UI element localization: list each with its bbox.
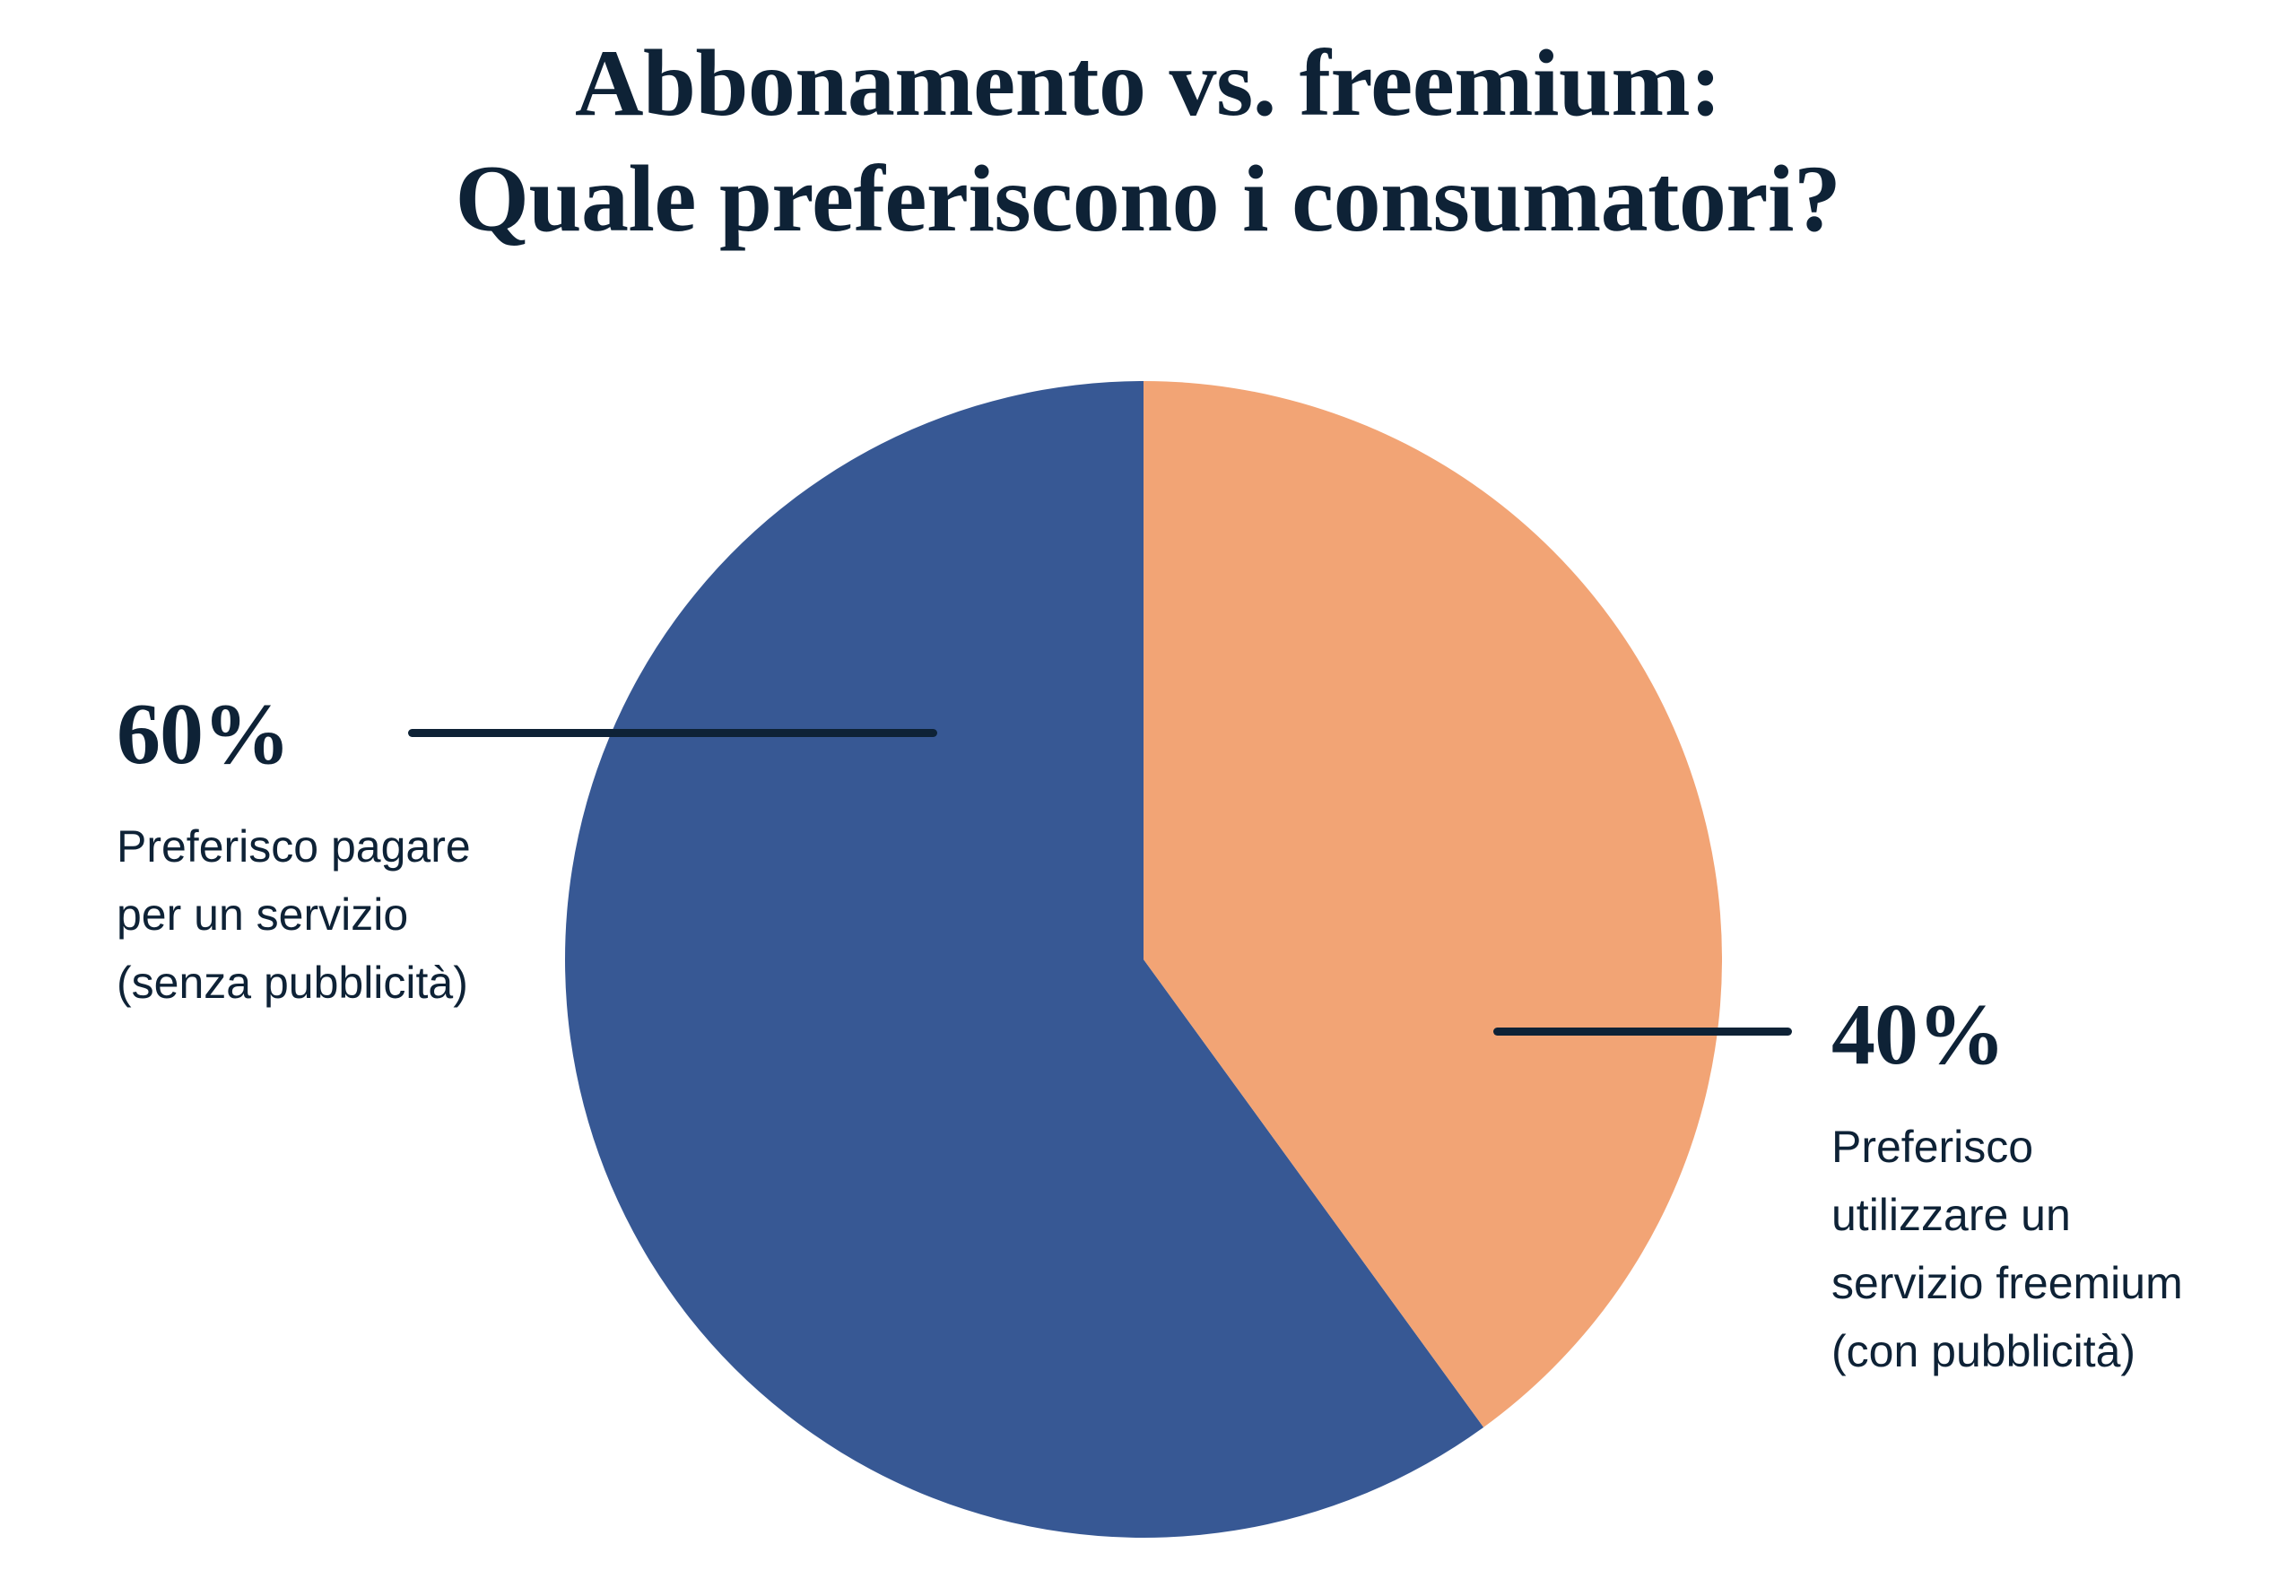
callout-left-desc-line-3: (senza pubblicità) bbox=[117, 949, 471, 1017]
callout-left: 60% Preferisco pagare per un servizio (s… bbox=[117, 690, 471, 1017]
callout-left-description: Preferisco pagare per un servizio (senza… bbox=[117, 812, 471, 1017]
callout-right-desc-line-3: servizio freemium bbox=[1831, 1249, 2183, 1317]
callout-right-description: Preferisco utilizzare un servizio freemi… bbox=[1831, 1113, 2183, 1385]
callout-left-desc-line-2: per un servizio bbox=[117, 880, 471, 949]
leader-line-right bbox=[1493, 1028, 1792, 1036]
callout-right-desc-line-2: utilizzare un bbox=[1831, 1181, 2183, 1249]
pie-chart bbox=[565, 381, 1722, 1538]
callout-right-desc-line-1: Preferisco bbox=[1831, 1113, 2183, 1181]
page-title: Abbonamento vs. freemium: Quale preferis… bbox=[0, 25, 2296, 257]
infographic-pie-chart: Abbonamento vs. freemium: Quale preferis… bbox=[0, 0, 2296, 1596]
callout-left-percent: 60% bbox=[117, 690, 471, 778]
title-line-1: Abbonamento vs. freemium: bbox=[0, 25, 2296, 141]
leader-line-left bbox=[408, 729, 937, 737]
title-line-2: Quale preferiscono i consumatori? bbox=[0, 141, 2296, 256]
callout-left-desc-line-1: Preferisco pagare bbox=[117, 812, 471, 880]
callout-right: 40% Preferisco utilizzare un servizio fr… bbox=[1831, 991, 2183, 1385]
callout-right-desc-line-4: (con pubblicità) bbox=[1831, 1317, 2183, 1385]
callout-right-percent: 40% bbox=[1831, 991, 2183, 1079]
